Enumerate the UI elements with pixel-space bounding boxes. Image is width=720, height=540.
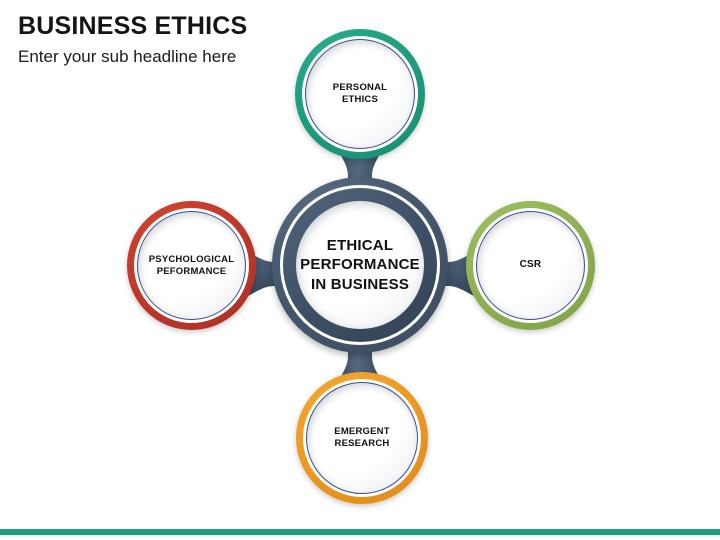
node-label-csr: CSR (514, 259, 548, 271)
hub-and-spoke-diagram: PERSONAL ETHICS PSYCHOLOGICAL PEFORMANCE… (0, 0, 720, 540)
hub-label: ETHICAL PERFORMANCE IN BUSINESS (294, 236, 426, 295)
node-label-psychological-peformance: PSYCHOLOGICAL PEFORMANCE (143, 254, 240, 277)
node-label-personal-ethics: PERSONAL ETHICS (327, 82, 393, 105)
diagram-node-psychological-peformance[interactable]: PSYCHOLOGICAL PEFORMANCE (127, 201, 256, 330)
node-label-emergent-research: EMERGENT RESEARCH (328, 426, 395, 449)
node-disc-right: CSR (476, 211, 585, 320)
node-disc-top: PERSONAL ETHICS (305, 39, 415, 149)
slide-canvas: BUSINESS ETHICS Enter your sub headline … (0, 0, 720, 540)
diagram-hub-ethical-performance-in-business[interactable]: ETHICAL PERFORMANCE IN BUSINESS (272, 177, 448, 353)
node-disc-bottom: EMERGENT RESEARCH (306, 382, 418, 494)
diagram-node-emergent-research[interactable]: EMERGENT RESEARCH (296, 372, 428, 504)
hub-disc: ETHICAL PERFORMANCE IN BUSINESS (296, 201, 424, 329)
diagram-node-csr[interactable]: CSR (466, 201, 595, 330)
diagram-node-personal-ethics[interactable]: PERSONAL ETHICS (295, 29, 425, 159)
node-disc-left: PSYCHOLOGICAL PEFORMANCE (137, 211, 246, 320)
